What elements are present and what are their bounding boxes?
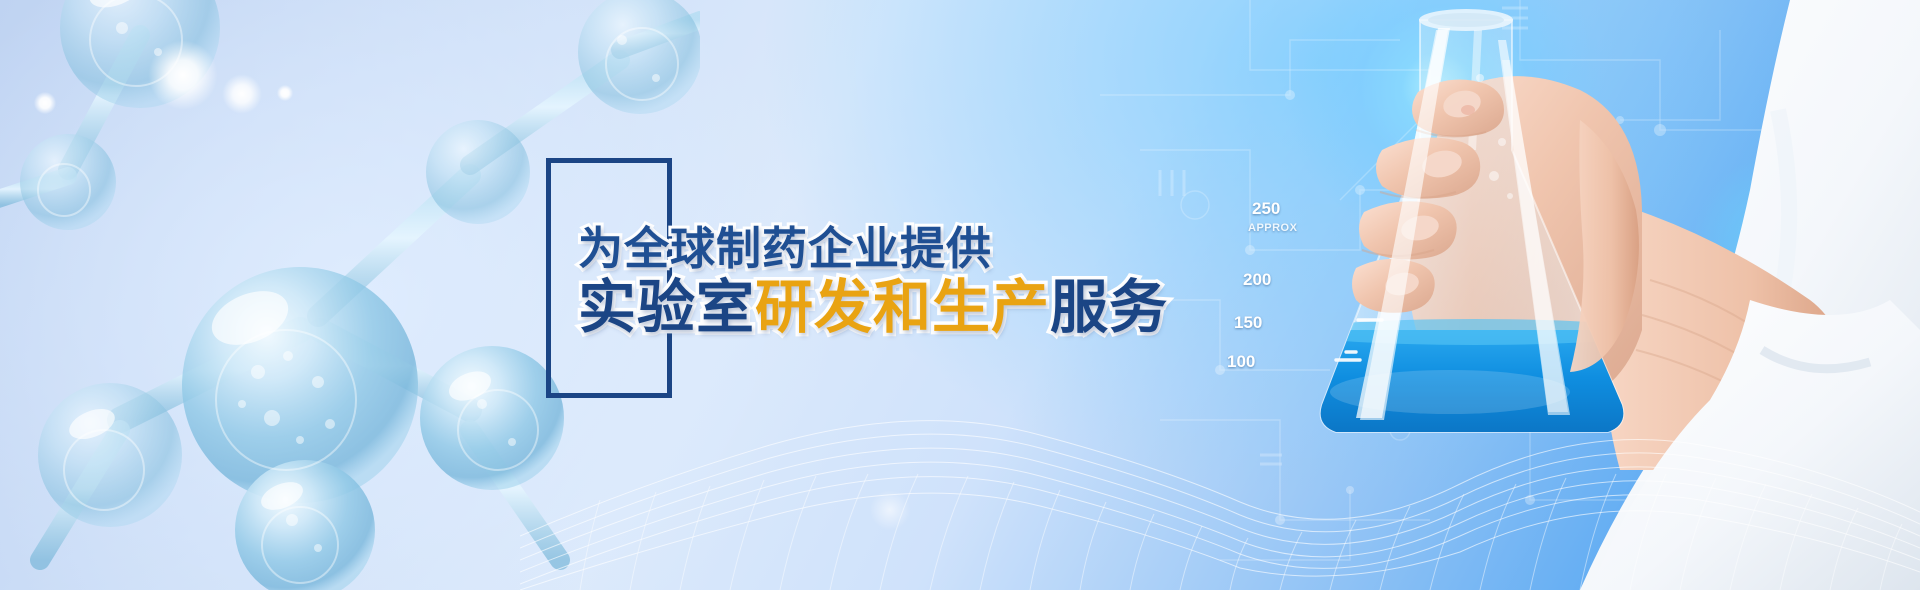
hero-banner: 250 APPROX 200 150 100: [0, 0, 1920, 590]
headline-segment-service: 服务: [1050, 275, 1168, 340]
headline-segment-rnd: 研发和生产: [755, 275, 1050, 340]
headline-segment-lab: 实验室: [578, 275, 755, 340]
headline-line-2: 实验室研发和生产服务: [578, 274, 1168, 342]
headline: 为全球制药企业提供 实验室研发和生产服务: [578, 222, 1168, 342]
headline-block: 为全球制药企业提供 实验室研发和生产服务: [0, 0, 1920, 590]
headline-line-1: 为全球制药企业提供: [578, 222, 1168, 276]
